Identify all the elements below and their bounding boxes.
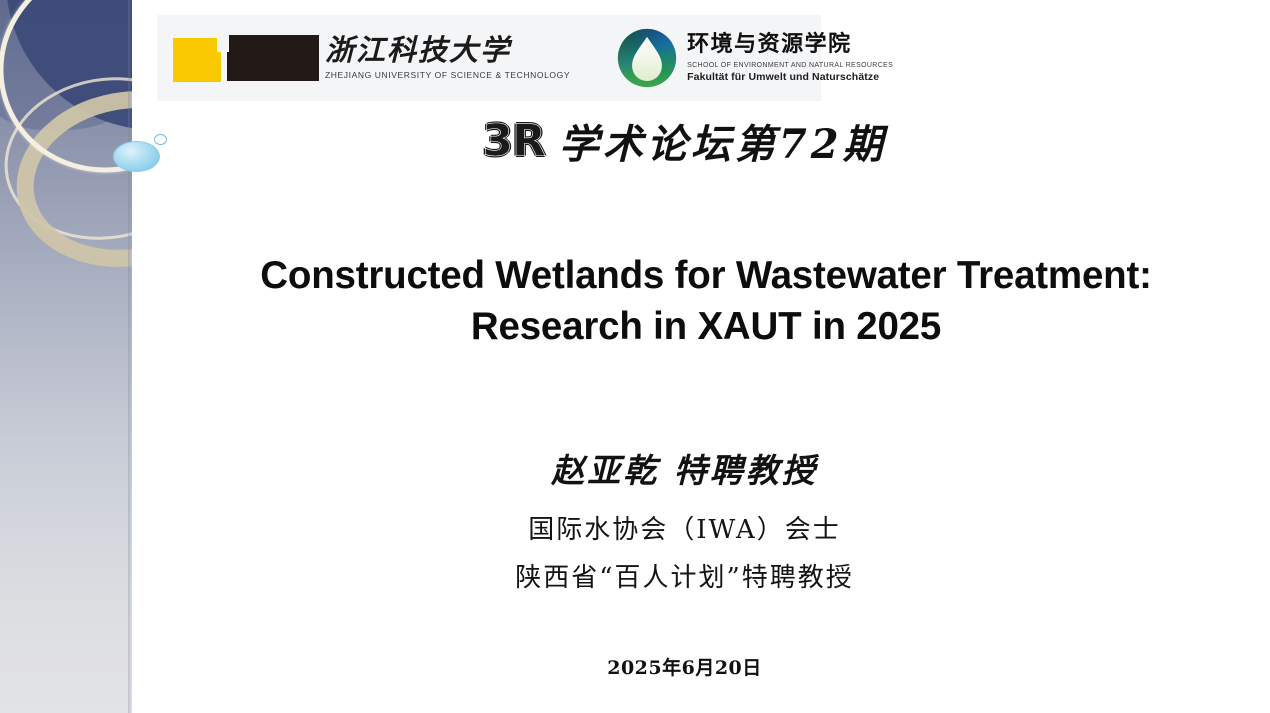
university-logo: 浙江科技大学 ZHEJIANG UNIVERSITY OF SCIENCE & … — [173, 34, 570, 82]
school-logo: 环境与资源学院 SCHOOL OF ENVIRONMENT AND NATURA… — [616, 27, 893, 89]
school-logo-text: 环境与资源学院 SCHOOL OF ENVIRONMENT AND NATURA… — [687, 34, 893, 83]
university-name-en: ZHEJIANG UNIVERSITY OF SCIENCE & TECHNOL… — [325, 71, 570, 80]
speaker-affiliation-2: 陕西省“百人计划”特聘教授 — [157, 557, 1212, 594]
small-circle-outline-icon — [154, 134, 167, 145]
side-band-edge — [128, 0, 132, 713]
school-name-cn: 环境与资源学院 — [687, 34, 893, 56]
zjust-yellow-square-icon — [173, 38, 221, 82]
forum-heading: 3R学术论坛第72期 — [157, 112, 1212, 170]
school-name-de: Fakultät für Umwelt und Naturschätze — [687, 72, 893, 83]
speaker-affiliation-1: 国际水协会（IWA）会士 — [157, 509, 1212, 546]
presentation-date: 2025年6月20日 — [157, 653, 1212, 680]
zjust-notch-icon — [217, 34, 229, 52]
header-logo-strip: 浙江科技大学 ZHEJIANG UNIVERSITY OF SCIENCE & … — [157, 15, 821, 101]
slide-title-line-2: Research in XAUT in 2025 — [157, 301, 1255, 352]
school-name-en: SCHOOL OF ENVIRONMENT AND NATURAL RESOUR… — [687, 62, 893, 69]
slide-title: Constructed Wetlands for Wastewater Trea… — [157, 250, 1255, 352]
zjust-logomark-icon — [173, 34, 319, 82]
university-name-cn: 浙江科技大学 — [325, 36, 570, 65]
zjust-dark-rectangle-icon — [227, 35, 319, 81]
water-droplet-icon — [616, 27, 678, 89]
forum-3r-badge: 3R — [482, 116, 545, 167]
slide-title-line-1: Constructed Wetlands for Wastewater Trea… — [157, 250, 1255, 301]
presentation-slide: 浙江科技大学 ZHEJIANG UNIVERSITY OF SCIENCE & … — [0, 0, 1270, 713]
decorative-side-band — [0, 0, 132, 713]
university-logo-text: 浙江科技大学 ZHEJIANG UNIVERSITY OF SCIENCE & … — [325, 36, 570, 80]
speaker-name: 赵亚乾 特聘教授 — [157, 444, 1212, 492]
forum-label: 学术论坛第72期 — [559, 121, 887, 168]
blue-lozenge-icon — [113, 141, 160, 172]
